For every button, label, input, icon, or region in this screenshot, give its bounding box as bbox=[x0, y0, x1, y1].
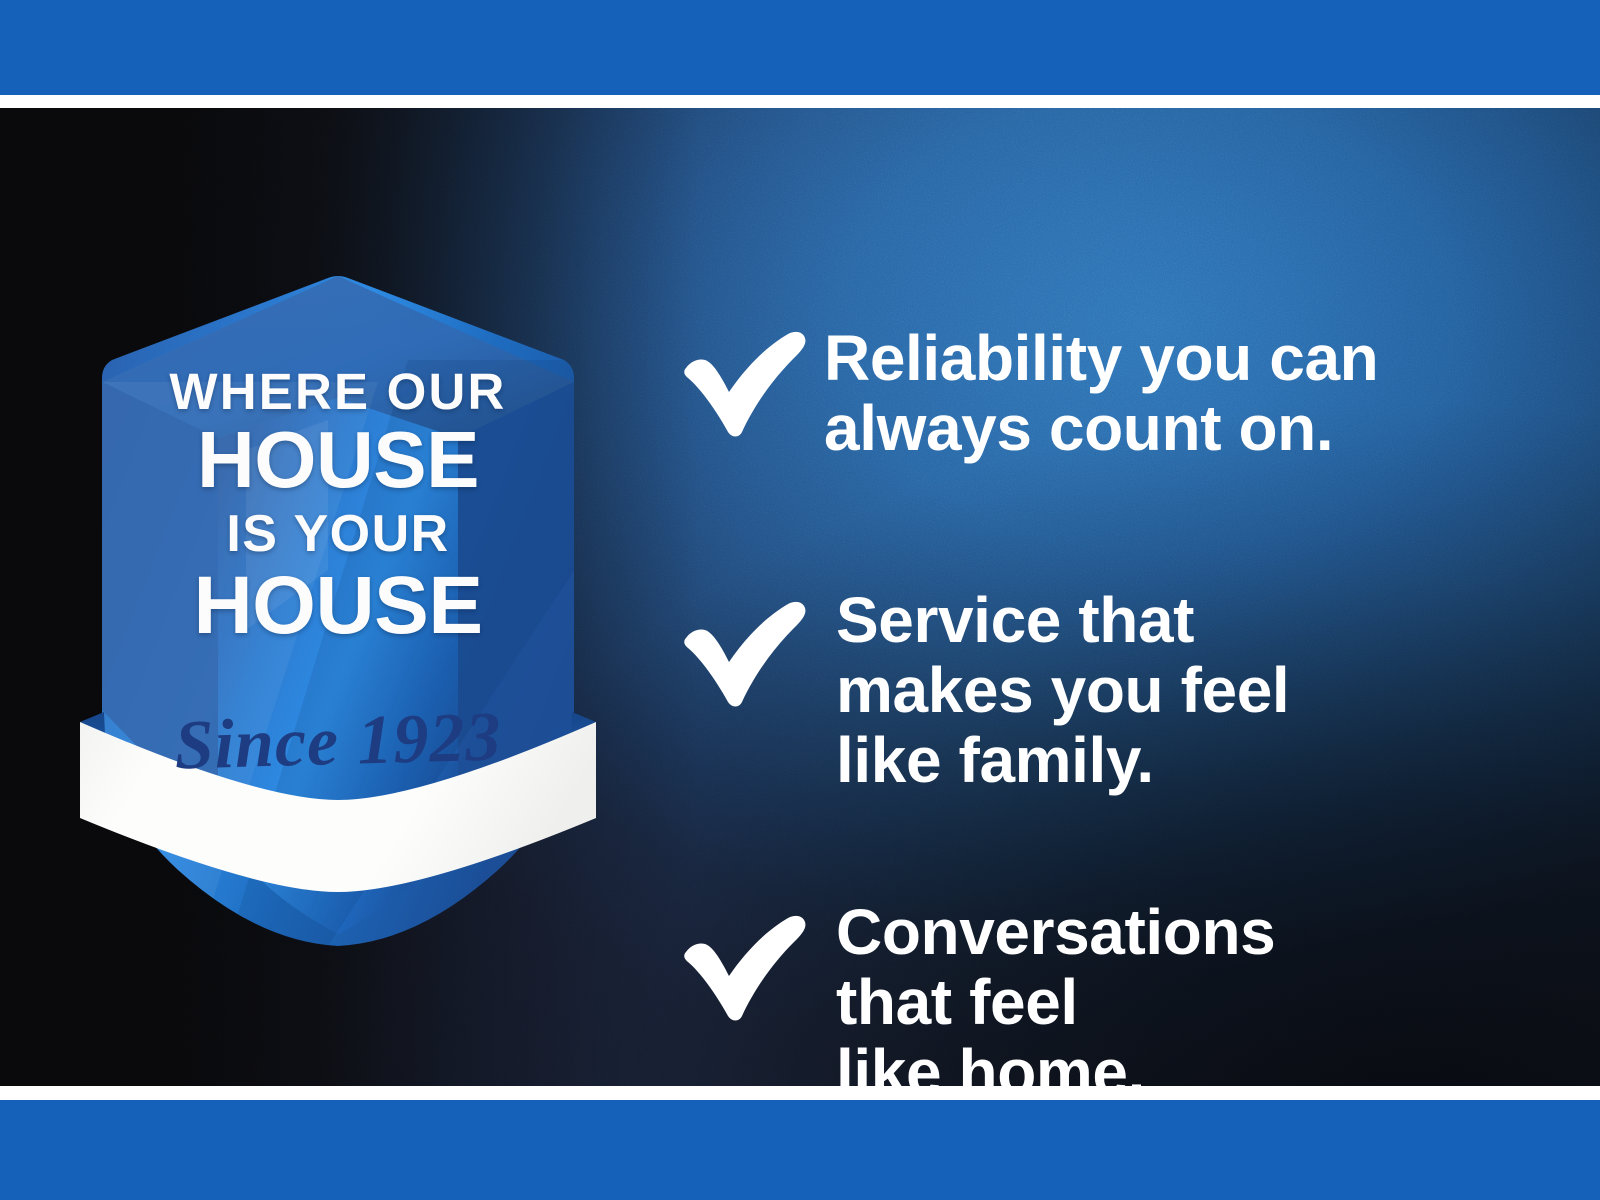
benefit-text: Conversations that feel like home. bbox=[824, 898, 1532, 1086]
check-icon bbox=[672, 586, 824, 710]
shield-ribbon-since-text: Since 1923 bbox=[77, 700, 599, 784]
shield-line-4: HOUSE bbox=[78, 565, 598, 647]
benefit-text-line: always count on. bbox=[824, 394, 1532, 464]
benefit-item-conversations: Conversations that feel like home. bbox=[672, 898, 1532, 1086]
benefit-text-line: that feel bbox=[836, 968, 1532, 1038]
benefit-text-line: Reliability you can bbox=[824, 324, 1532, 394]
check-icon bbox=[672, 324, 824, 440]
shield-line-3: IS YOUR bbox=[78, 508, 598, 560]
top-brand-bar bbox=[0, 0, 1600, 95]
benefit-text-line: like home. bbox=[836, 1038, 1532, 1087]
benefit-text-line: makes you feel bbox=[836, 656, 1532, 726]
benefit-text: Service that makes you feel like family. bbox=[824, 586, 1532, 795]
benefit-list: Reliability you can always count on. Ser… bbox=[672, 216, 1532, 1086]
benefit-item-reliability: Reliability you can always count on. bbox=[672, 324, 1532, 464]
shield-line-2: HOUSE bbox=[78, 420, 598, 500]
promo-poster: WHERE OUR HOUSE IS YOUR HOUSE Since 1923… bbox=[0, 0, 1600, 1200]
shield-logo: WHERE OUR HOUSE IS YOUR HOUSE Since 1923 bbox=[78, 270, 598, 950]
check-icon bbox=[672, 898, 824, 1024]
poster-stage: WHERE OUR HOUSE IS YOUR HOUSE Since 1923… bbox=[0, 108, 1600, 1086]
bottom-brand-bar bbox=[0, 1100, 1600, 1200]
benefit-text: Reliability you can always count on. bbox=[824, 324, 1532, 464]
benefit-text-line: like family. bbox=[836, 726, 1532, 796]
benefit-text-line: Conversations bbox=[836, 898, 1532, 968]
benefit-item-service: Service that makes you feel like family. bbox=[672, 586, 1532, 795]
benefit-text-line: Service that bbox=[836, 586, 1532, 656]
shield-line-1: WHERE OUR bbox=[78, 366, 598, 417]
